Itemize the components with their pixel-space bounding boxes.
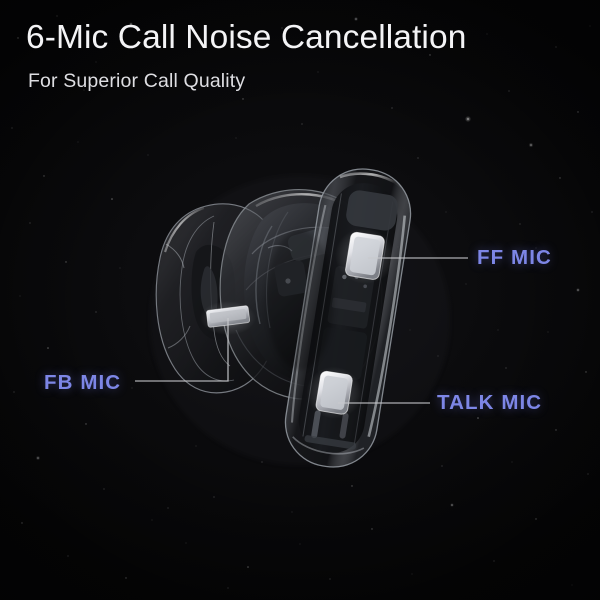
- callout-label-talk-mic: TALK MIC: [437, 391, 542, 415]
- page-subtitle: For Superior Call Quality: [28, 70, 566, 93]
- callout-label-ff-mic: FF MIC: [477, 246, 552, 270]
- callout-label-fb-mic: FB MIC: [44, 371, 121, 395]
- heading-block: 6-Mic Call Noise Cancellation For Superi…: [26, 18, 566, 93]
- promo-image-canvas: 6-Mic Call Noise Cancellation For Superi…: [0, 0, 600, 600]
- page-title: 6-Mic Call Noise Cancellation: [26, 18, 566, 58]
